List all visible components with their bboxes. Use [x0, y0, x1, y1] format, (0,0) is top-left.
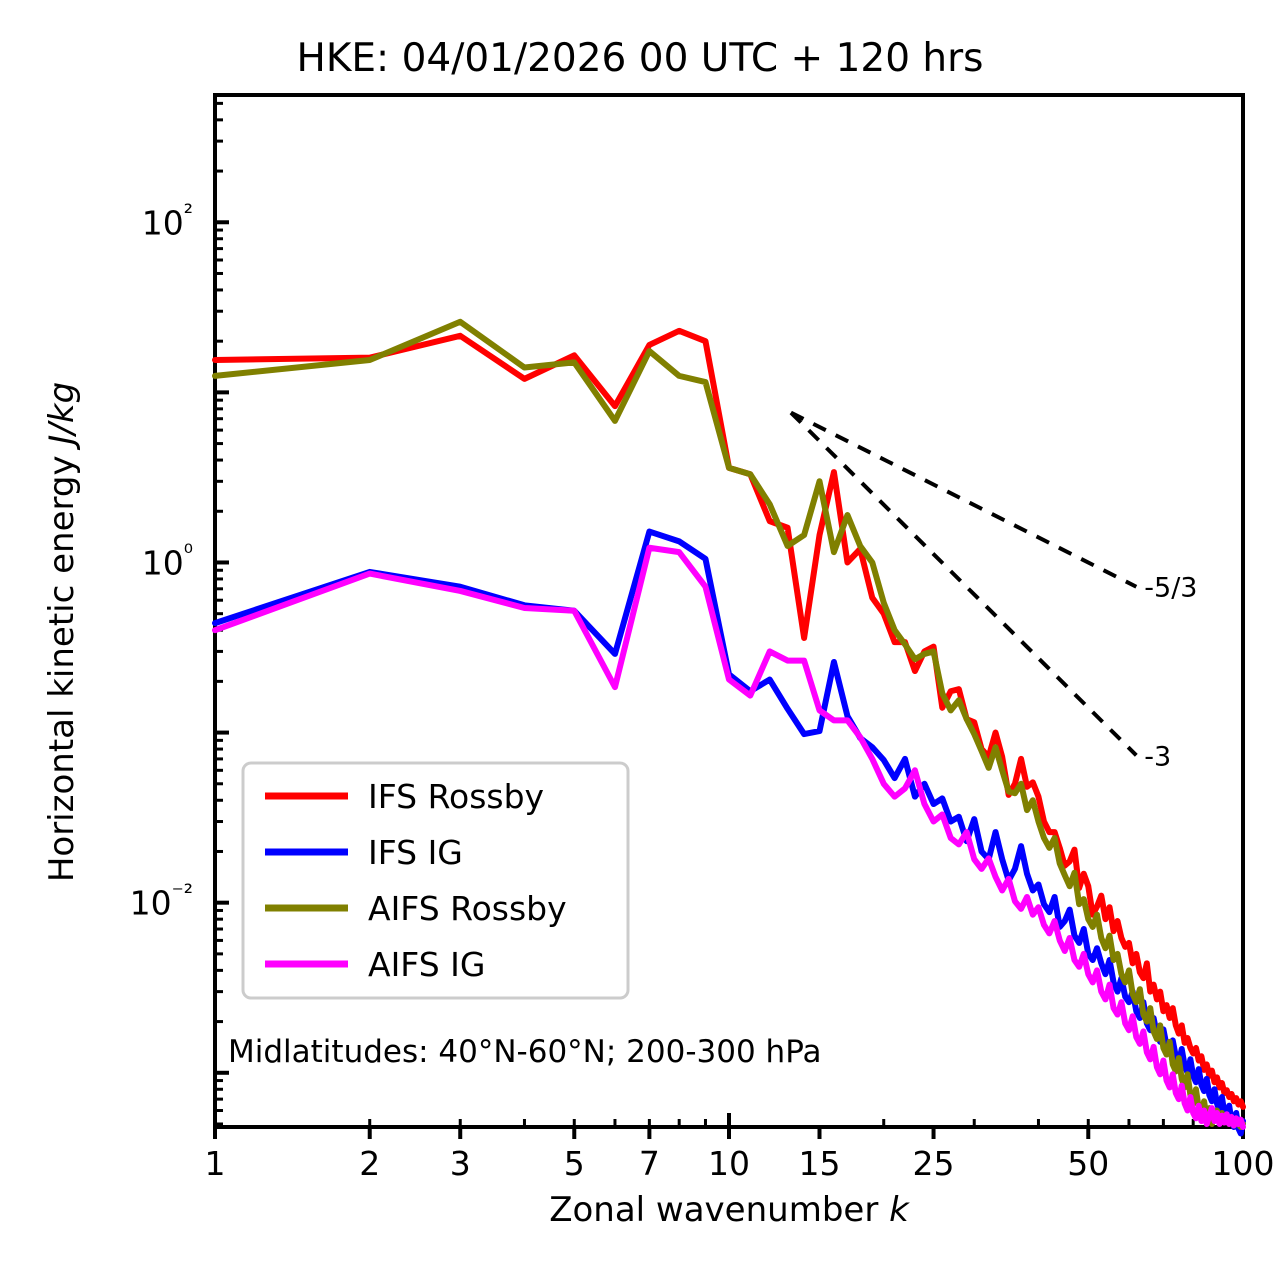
reference-slope-label: -3 [1144, 741, 1171, 772]
series-line [215, 322, 1243, 1127]
data-series-group [215, 322, 1243, 1134]
y-tick-label: 10² [142, 200, 193, 242]
plot-area: 10²10⁰10⁻² 1235710152550100 -5/3-3 IFS R… [0, 0, 1280, 1288]
x-tick-label: 15 [799, 1144, 841, 1183]
x-tick-label: 50 [1067, 1144, 1109, 1183]
x-axis-ticks: 1235710152550100 [205, 1113, 1275, 1183]
chart-legend[interactable]: IFS RossbyIFS IGAIFS RossbyAIFS IG [243, 763, 628, 998]
region-annotation-text: Midlatitudes: 40°N-60°N; 200-300 hPa [228, 1034, 822, 1070]
y-tick-label: 10⁻² [130, 881, 193, 923]
y-tick-label: 10⁰ [142, 540, 193, 582]
reference-slope-label: -5/3 [1144, 573, 1197, 604]
x-tick-label: 5 [564, 1144, 585, 1183]
legend-item-label: IFS Rossby [368, 777, 544, 816]
x-tick-label: 2 [359, 1144, 380, 1183]
x-tick-label: 3 [450, 1144, 471, 1183]
legend-item-label: IFS IG [368, 833, 463, 872]
x-tick-label: 100 [1212, 1144, 1275, 1183]
x-tick-label: 10 [708, 1144, 750, 1183]
x-tick-label: 1 [205, 1144, 226, 1183]
chart-figure: HKE: 04/01/2026 00 UTC + 120 hrs Horizon… [0, 0, 1280, 1288]
legend-item-label: AIFS IG [368, 945, 485, 984]
reference-slope-line [791, 413, 1136, 587]
legend-item-label: AIFS Rossby [368, 889, 567, 928]
x-tick-label: 7 [639, 1144, 660, 1183]
x-tick-label: 25 [913, 1144, 955, 1183]
region-annotation: Midlatitudes: 40°N-60°N; 200-300 hPa [228, 1034, 822, 1070]
